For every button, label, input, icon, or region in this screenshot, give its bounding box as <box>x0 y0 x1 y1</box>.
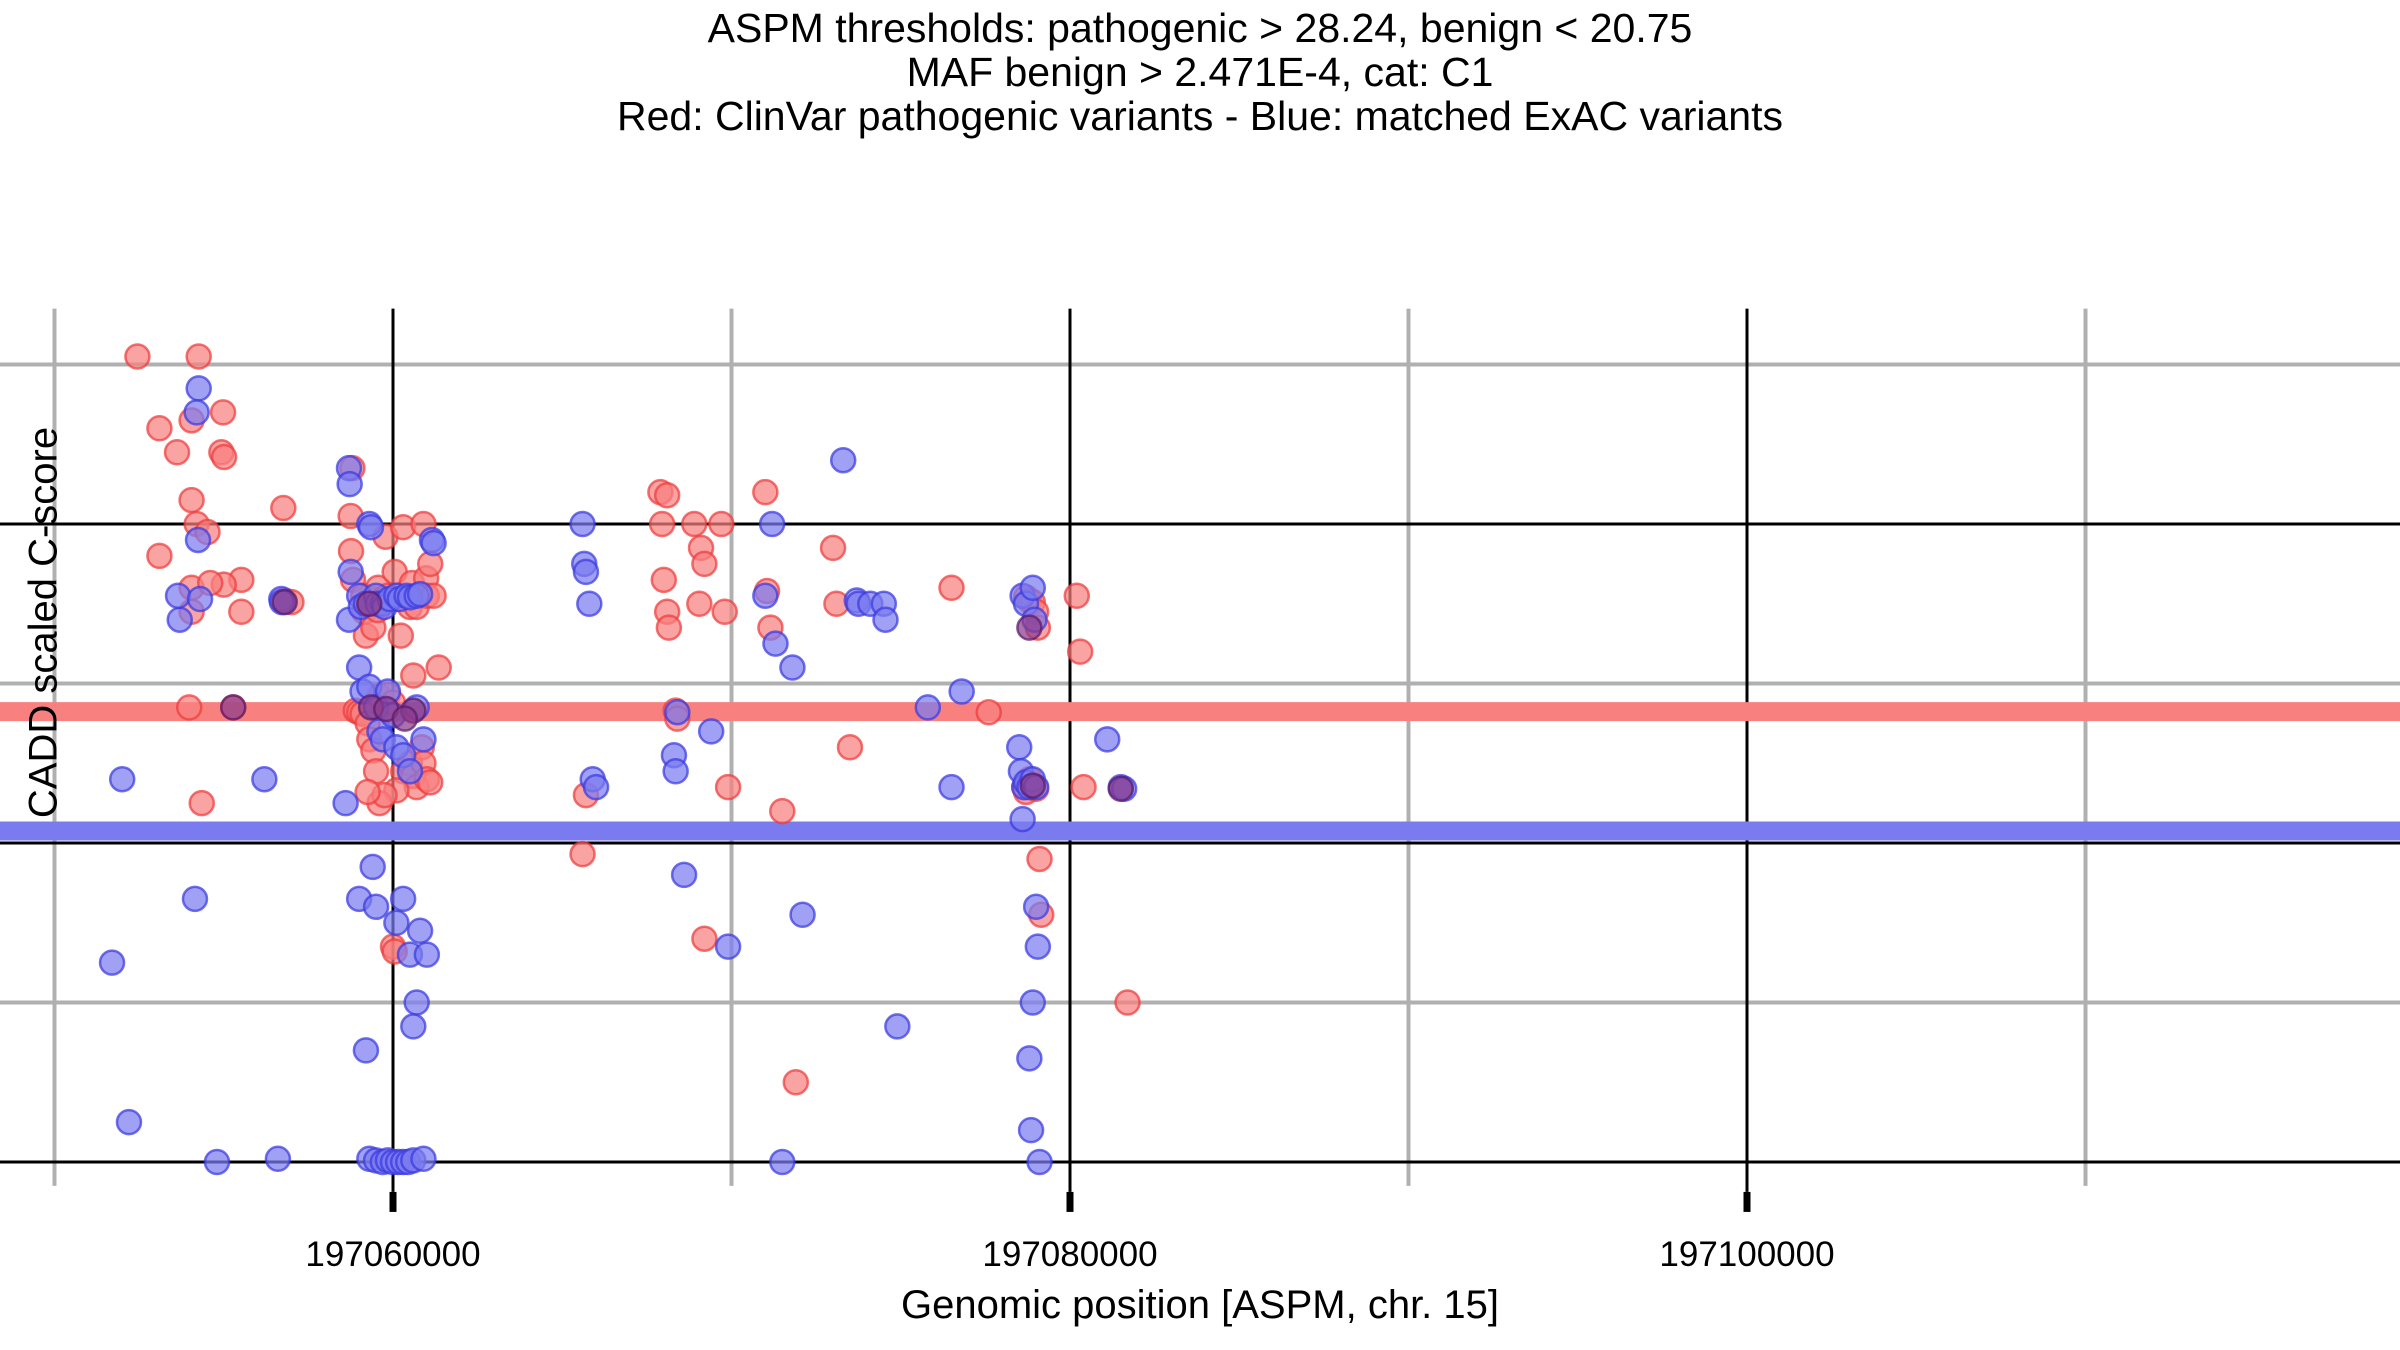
scatter-point <box>652 568 676 592</box>
scatter-point <box>147 416 171 440</box>
scatter-point <box>770 799 794 823</box>
scatter-point <box>831 448 855 472</box>
scatter-point <box>1068 640 1092 664</box>
scatter-point <box>699 719 723 743</box>
scatter-point <box>1021 991 1045 1015</box>
scatter-point <box>408 919 432 943</box>
scatter-point <box>716 775 740 799</box>
scatter-point <box>190 791 214 815</box>
scatter-point <box>221 695 245 719</box>
scatter-series <box>100 376 1136 1174</box>
scatter-point <box>657 616 681 640</box>
scatter-point <box>401 664 425 688</box>
scatter-point <box>713 600 737 624</box>
scatter-point <box>147 544 171 568</box>
scatter-point <box>205 1150 229 1174</box>
scatter-point <box>411 727 435 751</box>
scatter-point <box>354 1038 378 1062</box>
scatter-point <box>357 592 381 616</box>
scatter-point <box>650 512 674 536</box>
scatter-point <box>821 536 845 560</box>
scatter-point <box>186 528 210 552</box>
scatter-point <box>405 991 429 1015</box>
scatter-point <box>389 624 413 648</box>
scatter-point <box>177 695 201 719</box>
scatter-point <box>574 560 598 584</box>
scatter-point <box>180 488 204 512</box>
scatter-point <box>422 531 446 555</box>
chart-root: ASPM thresholds: pathogenic > 28.24, ben… <box>0 0 2400 1350</box>
scatter-point <box>1028 1150 1052 1174</box>
scatter-point <box>784 1070 808 1094</box>
scatter-point <box>187 376 211 400</box>
scatter-point <box>791 903 815 927</box>
scatter-point <box>1021 774 1045 798</box>
scatter-point <box>339 560 363 584</box>
scatter-point <box>334 791 358 815</box>
scatter-point <box>361 855 385 879</box>
x-tick-label: 197100000 <box>1659 1235 1834 1274</box>
scatter-point <box>584 775 608 799</box>
scatter-point <box>977 700 1001 724</box>
scatter-point <box>271 496 295 520</box>
scatter-point <box>384 911 408 935</box>
scatter-point <box>1024 895 1048 919</box>
scatter-point <box>125 345 149 369</box>
scatter-point <box>1065 584 1089 608</box>
scatter-point <box>838 735 862 759</box>
scatter-point <box>393 707 417 731</box>
x-tick-label: 197060000 <box>305 1235 480 1274</box>
scatter-point <box>753 584 777 608</box>
scatter-point <box>1109 777 1133 801</box>
scatter-plot-svg: 19706000019708000019710000002040 <box>0 0 2400 1350</box>
scatter-point <box>212 445 236 469</box>
scatter-point <box>188 587 212 611</box>
scatter-point <box>183 887 207 911</box>
scatter-point <box>391 887 415 911</box>
scatter-point <box>770 1150 794 1174</box>
scatter-point <box>187 345 211 369</box>
scatter-point <box>940 775 964 799</box>
scatter-point <box>185 400 209 424</box>
scatter-point <box>1095 727 1119 751</box>
scatter-point <box>692 552 716 576</box>
scatter-point <box>427 656 451 680</box>
plot-area: 19706000019708000019710000002040 CADD sc… <box>0 0 2400 1350</box>
y-axis-title: CADD scaled C-score <box>22 383 67 863</box>
scatter-point <box>682 512 706 536</box>
scatter-point <box>110 767 134 791</box>
scatter-point <box>780 656 804 680</box>
scatter-point <box>664 759 688 783</box>
scatter-point <box>252 767 276 791</box>
x-axis-title: Genomic position [ASPM, chr. 15] <box>0 1283 2400 1328</box>
scatter-point <box>577 592 601 616</box>
scatter-point <box>571 512 595 536</box>
scatter-point <box>692 927 716 951</box>
scatter-point <box>716 935 740 959</box>
scatter-point <box>168 608 192 632</box>
scatter-point <box>211 400 235 424</box>
scatter-point <box>1019 1118 1043 1142</box>
scatter-point <box>401 1014 425 1038</box>
scatter-point <box>571 842 595 866</box>
scatter-point <box>753 480 777 504</box>
scatter-point <box>764 632 788 656</box>
scatter-point <box>672 863 696 887</box>
scatter-point <box>273 590 297 614</box>
scatter-point <box>408 582 432 606</box>
x-tick-label: 197080000 <box>982 1235 1157 1274</box>
scatter-point <box>356 780 380 804</box>
scatter-point <box>1116 991 1140 1015</box>
scatter-point <box>1017 616 1041 640</box>
scatter-point <box>1026 935 1050 959</box>
scatter-point <box>916 695 940 719</box>
scatter-point <box>655 483 679 507</box>
scatter-point <box>709 512 733 536</box>
scatter-point <box>415 943 439 967</box>
scatter-point <box>1072 775 1096 799</box>
scatter-point <box>165 440 189 464</box>
scatter-point <box>117 1110 141 1134</box>
scatter-point <box>411 1147 435 1171</box>
scatter-point <box>1011 807 1035 831</box>
scatter-point <box>1028 847 1052 871</box>
scatter-point <box>100 951 124 975</box>
scatter-point <box>229 600 253 624</box>
scatter-point <box>950 679 974 703</box>
scatter-point <box>940 576 964 600</box>
scatter-point <box>359 515 383 539</box>
scatter-point <box>1007 735 1031 759</box>
scatter-point <box>398 759 422 783</box>
scatter-point <box>1017 1046 1041 1070</box>
scatter-point <box>266 1147 290 1171</box>
scatter-point <box>885 1014 909 1038</box>
scatter-point <box>760 512 784 536</box>
scatter-point <box>687 592 711 616</box>
scatter-point <box>166 584 190 608</box>
scatter-point <box>1021 576 1045 600</box>
scatter-point <box>364 895 388 919</box>
scatter-point <box>665 700 689 724</box>
scatter-point <box>874 608 898 632</box>
scatter-point <box>338 472 362 496</box>
